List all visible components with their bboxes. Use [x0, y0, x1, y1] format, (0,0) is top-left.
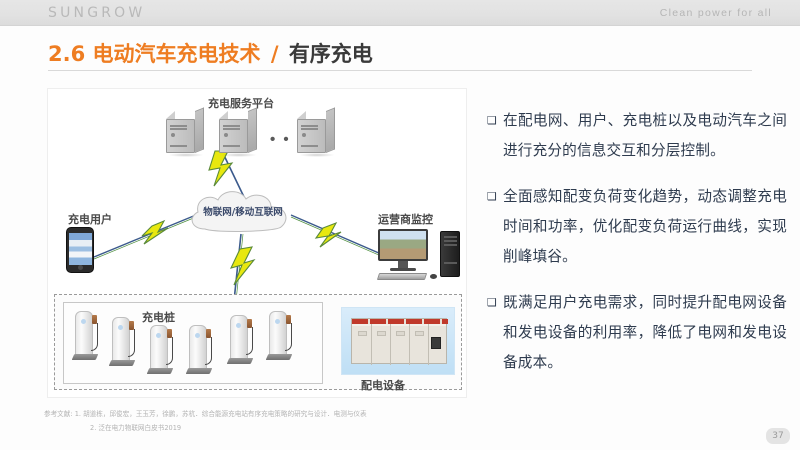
- smartphone-icon: [66, 227, 94, 273]
- cloud-label: 物联网/移动互联网: [185, 204, 301, 218]
- charging-pile-icon: [109, 317, 136, 367]
- footnote-line-1: 参考文献: 1. 胡道栋，邱俊宏，王玉芳，徐鹏，苏杭．综合能源充电站有序充电策略…: [44, 407, 514, 421]
- bullet-marker-icon: ❑: [487, 182, 503, 272]
- footnote-line-2: 2. 泛在电力物联网白皮书2019: [44, 421, 514, 435]
- operator-workstation-icon: [378, 229, 466, 285]
- reference-footnote: 参考文献: 1. 胡道栋，邱俊宏，王玉芳，徐鹏，苏杭．综合能源充电站有序充电策略…: [44, 407, 514, 435]
- bullet-item: ❑ 在配电网、用户、充电桩以及电动汽车之间进行充分的信息交互和分层控制。: [487, 106, 787, 166]
- slide-canvas: SUNGROW Clean power for all 2.6 电动汽车充电技术…: [0, 0, 800, 450]
- title-separator: /: [268, 42, 282, 66]
- cloud-icon: 物联网/移动互联网: [185, 187, 301, 237]
- switchgear-icon: [341, 307, 455, 375]
- station-region: 充电桩 配电设备: [54, 294, 462, 390]
- bullet-text: 全面感知配变负荷变化趋势，动态调整充电时间和功率，优化配变负荷运行曲线，实现削峰…: [503, 182, 787, 272]
- bullet-marker-icon: ❑: [487, 288, 503, 378]
- charging-pile-icon: [266, 311, 293, 361]
- bullet-text: 在配电网、用户、充电桩以及电动汽车之间进行充分的信息交互和分层控制。: [503, 106, 787, 166]
- user-label: 充电用户: [68, 211, 112, 227]
- charging-pile-group: 充电桩: [63, 302, 323, 384]
- title-number: 2.6: [48, 42, 85, 66]
- charging-pile-icon: [186, 325, 213, 375]
- bullet-item: ❑ 既满足用户充电需求，同时提升配电网设备和发电设备的利用率，降低了电网和发电设…: [487, 288, 787, 378]
- pile-label: 充电桩: [142, 309, 175, 325]
- header-tagline: Clean power for all: [660, 7, 772, 19]
- charging-pile-icon: [227, 315, 254, 365]
- server-icon: [166, 111, 204, 155]
- title-sub: 有序充电: [289, 42, 373, 66]
- bullet-list: ❑ 在配电网、用户、充电桩以及电动汽车之间进行充分的信息交互和分层控制。 ❑ 全…: [487, 106, 787, 394]
- bullet-marker-icon: ❑: [487, 106, 503, 166]
- bullet-item: ❑ 全面感知配变负荷变化趋势，动态调整充电时间和功率，优化配变负荷运行曲线，实现…: [487, 182, 787, 272]
- page-number-badge: 37: [766, 428, 790, 444]
- charging-pile-icon: [147, 325, 174, 375]
- platform-label: 充电服务平台: [208, 95, 274, 111]
- server-icon: [297, 111, 335, 155]
- page-title: 2.6 电动汽车充电技术 / 有序充电: [48, 38, 752, 68]
- operator-label: 运营商监控: [378, 211, 433, 227]
- title-divider: [48, 70, 752, 71]
- server-icon: [219, 111, 257, 155]
- title-main: 电动汽车充电技术: [93, 42, 261, 66]
- charging-pile-icon: [72, 311, 99, 361]
- slide-header: SUNGROW Clean power for all: [0, 0, 800, 26]
- switchgear-label: 配电设备: [361, 377, 405, 393]
- architecture-diagram: 充电服务平台 • • • 物联: [47, 88, 467, 398]
- bullet-text: 既满足用户充电需求，同时提升配电网设备和发电设备的利用率，降低了电网和发电设备成…: [503, 288, 787, 378]
- sungrow-logo: SUNGROW: [48, 5, 145, 21]
